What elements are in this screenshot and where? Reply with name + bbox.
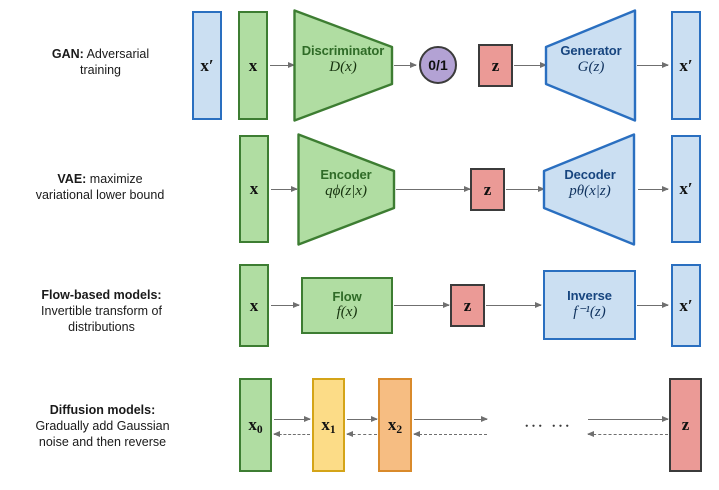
vae-arrow-x-to-encoder <box>271 189 297 190</box>
diffusion-arrow-from-z <box>588 434 668 435</box>
row-label-flow: Flow-based models: Invertible transform … <box>14 287 189 335</box>
flow-inverse-caption: Inverse f⁻¹(z) <box>545 289 634 320</box>
flow-name: Flow <box>303 290 391 305</box>
gan-x-input-label: x <box>249 56 258 76</box>
gan-xprime-left-bar: x′ <box>192 11 222 120</box>
flow-arrow-inverse-to-xprime <box>637 305 668 306</box>
row-label-vae-line2: variational lower bound <box>36 188 165 202</box>
diffusion-x0-sub: 0 <box>257 424 263 436</box>
gan-xprime-right-label: x′ <box>679 56 692 76</box>
diffusion-ellipsis: ∙∙∙ ∙∙∙ <box>513 416 583 438</box>
vae-xprime-right-label: x′ <box>679 179 692 199</box>
gan-arrow-z-to-generator <box>514 65 546 66</box>
flow-formula: f(x) <box>303 304 391 321</box>
row-label-gan-rest: Adversarial <box>84 47 149 61</box>
gan-arrow-x-to-discriminator <box>270 65 294 66</box>
diffusion-arrow-x2-forward <box>414 419 487 420</box>
row-label-flow-line2: Invertible transform of <box>41 304 162 318</box>
row-label-diffusion: Diffusion models: Gradually add Gaussian… <box>10 402 195 450</box>
flow-inverse-formula: f⁻¹(z) <box>545 304 634 321</box>
vae-xprime-right-bar: x′ <box>671 135 701 243</box>
gan-decision-circle: 0/1 <box>419 46 457 84</box>
flow-xprime-right-bar: x′ <box>671 264 701 347</box>
flow-x-input-bar: x <box>239 264 269 347</box>
flow-caption: Flow f(x) <box>303 290 391 321</box>
row-label-gan-line2: training <box>80 63 121 77</box>
diffusion-arrow-x0-to-x1 <box>274 419 310 420</box>
row-label-flow-head: Flow-based models: <box>41 288 161 302</box>
diffusion-arrow-x1-to-x0 <box>274 434 310 435</box>
flow-arrow-x-to-flow <box>271 305 299 306</box>
diffusion-arrow-x2-backward <box>414 434 487 435</box>
vae-decoder-shape <box>542 133 637 246</box>
diagram-canvas: GAN: Adversarial training x′ x Discrimin… <box>0 0 719 490</box>
gan-arrow-discriminator-to-decision <box>394 65 416 66</box>
row-label-vae-rest: maximize <box>86 172 142 186</box>
flow-x-input-label: x <box>250 296 259 316</box>
row-label-gan: GAN: Adversarial training <box>18 46 183 78</box>
vae-x-input-bar: x <box>239 135 269 243</box>
diffusion-arrow-to-z <box>588 419 668 420</box>
gan-z-box: z <box>478 44 513 87</box>
diffusion-z-label: z <box>682 415 690 435</box>
flow-arrow-z-to-inverse <box>486 305 541 306</box>
gan-decision-label: 0/1 <box>428 57 447 73</box>
row-label-vae: VAE: maximize variational lower bound <box>10 171 190 203</box>
row-label-diffusion-line3: noise and then reverse <box>39 435 166 449</box>
diffusion-x1-sub: 1 <box>330 424 336 436</box>
flow-block: Flow f(x) <box>301 277 393 334</box>
diffusion-arrow-x2-to-x1 <box>347 434 377 435</box>
flow-z-label: z <box>464 296 472 316</box>
vae-z-box: z <box>470 168 505 211</box>
diffusion-x0-label: x <box>248 415 257 434</box>
vae-encoder-shape <box>297 133 397 246</box>
vae-arrow-z-to-decoder <box>506 189 544 190</box>
flow-arrow-flow-to-z <box>394 305 449 306</box>
gan-discriminator-shape <box>293 9 395 122</box>
gan-z-label: z <box>492 56 500 76</box>
diffusion-z-bar: z <box>669 378 702 472</box>
gan-arrow-generator-to-xprime <box>637 65 668 66</box>
diffusion-x2-bar: x2 <box>378 378 412 472</box>
row-label-vae-head: VAE: <box>57 172 86 186</box>
flow-xprime-right-label: x′ <box>679 296 692 316</box>
row-label-diffusion-head: Diffusion models: <box>50 403 156 417</box>
gan-x-input-bar: x <box>238 11 268 120</box>
diffusion-x0-bar: x0 <box>239 378 272 472</box>
flow-inverse-name: Inverse <box>545 289 634 304</box>
diffusion-x1-bar: x1 <box>312 378 345 472</box>
row-label-flow-line3: distributions <box>68 320 135 334</box>
vae-x-input-label: x <box>250 179 259 199</box>
row-label-diffusion-line2: Gradually add Gaussian <box>35 419 169 433</box>
diffusion-x2-sub: 2 <box>396 424 402 436</box>
flow-inverse-block: Inverse f⁻¹(z) <box>543 270 636 340</box>
vae-z-label: z <box>484 180 492 200</box>
gan-generator-shape <box>544 9 638 122</box>
gan-xprime-right-bar: x′ <box>671 11 701 120</box>
vae-arrow-decoder-to-xprime <box>638 189 668 190</box>
gan-xprime-left-label: x′ <box>200 56 213 76</box>
flow-z-box: z <box>450 284 485 327</box>
diffusion-arrow-x1-to-x2 <box>347 419 377 420</box>
vae-arrow-encoder-to-z <box>396 189 470 190</box>
diffusion-x1-label: x <box>321 415 330 434</box>
row-label-gan-head: GAN: <box>52 47 84 61</box>
